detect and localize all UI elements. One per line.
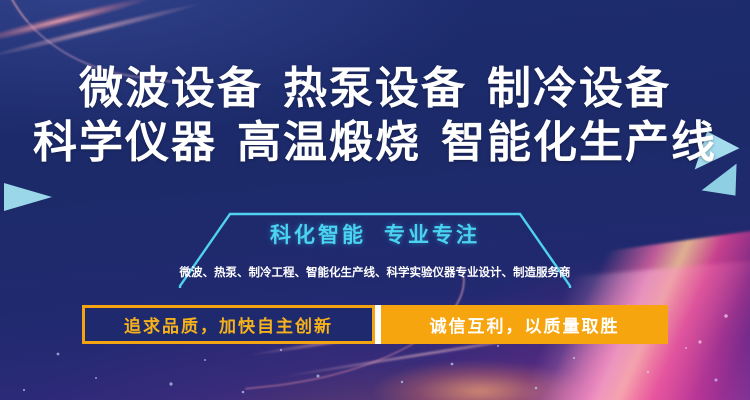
headline-word-1: 微波设备	[79, 63, 263, 114]
headline-word-4: 科学仪器	[33, 117, 217, 168]
slogan: 科化智能专业专注	[178, 220, 572, 250]
pill-integrity: 诚信互利，以质量取胜	[381, 305, 668, 344]
slogan-left: 科化智能	[270, 223, 366, 247]
headline-word-5: 高温煅烧	[237, 117, 421, 168]
pill-quality: 追求品质，加快自主创新	[82, 305, 375, 344]
promo-banner: 微波设备热泵设备制冷设备 科学仪器高温煅烧智能化生产线 科化智能专业专注 微波、…	[0, 0, 750, 400]
triangle-left-icon	[4, 183, 52, 211]
headline-line-2: 科学仪器高温煅烧智能化生产线	[0, 116, 750, 170]
headline-line-1: 微波设备热泵设备制冷设备	[0, 62, 750, 116]
headline: 微波设备热泵设备制冷设备 科学仪器高温煅烧智能化生产线	[0, 62, 750, 170]
slogan-right: 专业专注	[384, 223, 480, 247]
subline: 微波、热泵、制冷工程、智能化生产线、科学实验仪器专业设计、制造服务商	[165, 264, 585, 280]
headline-word-3: 制冷设备	[487, 63, 671, 114]
headline-word-6: 智能化生产线	[441, 117, 717, 168]
bottom-slogan-row: 追求品质，加快自主创新 诚信互利，以质量取胜	[82, 305, 668, 344]
headline-word-2: 热泵设备	[283, 63, 467, 114]
